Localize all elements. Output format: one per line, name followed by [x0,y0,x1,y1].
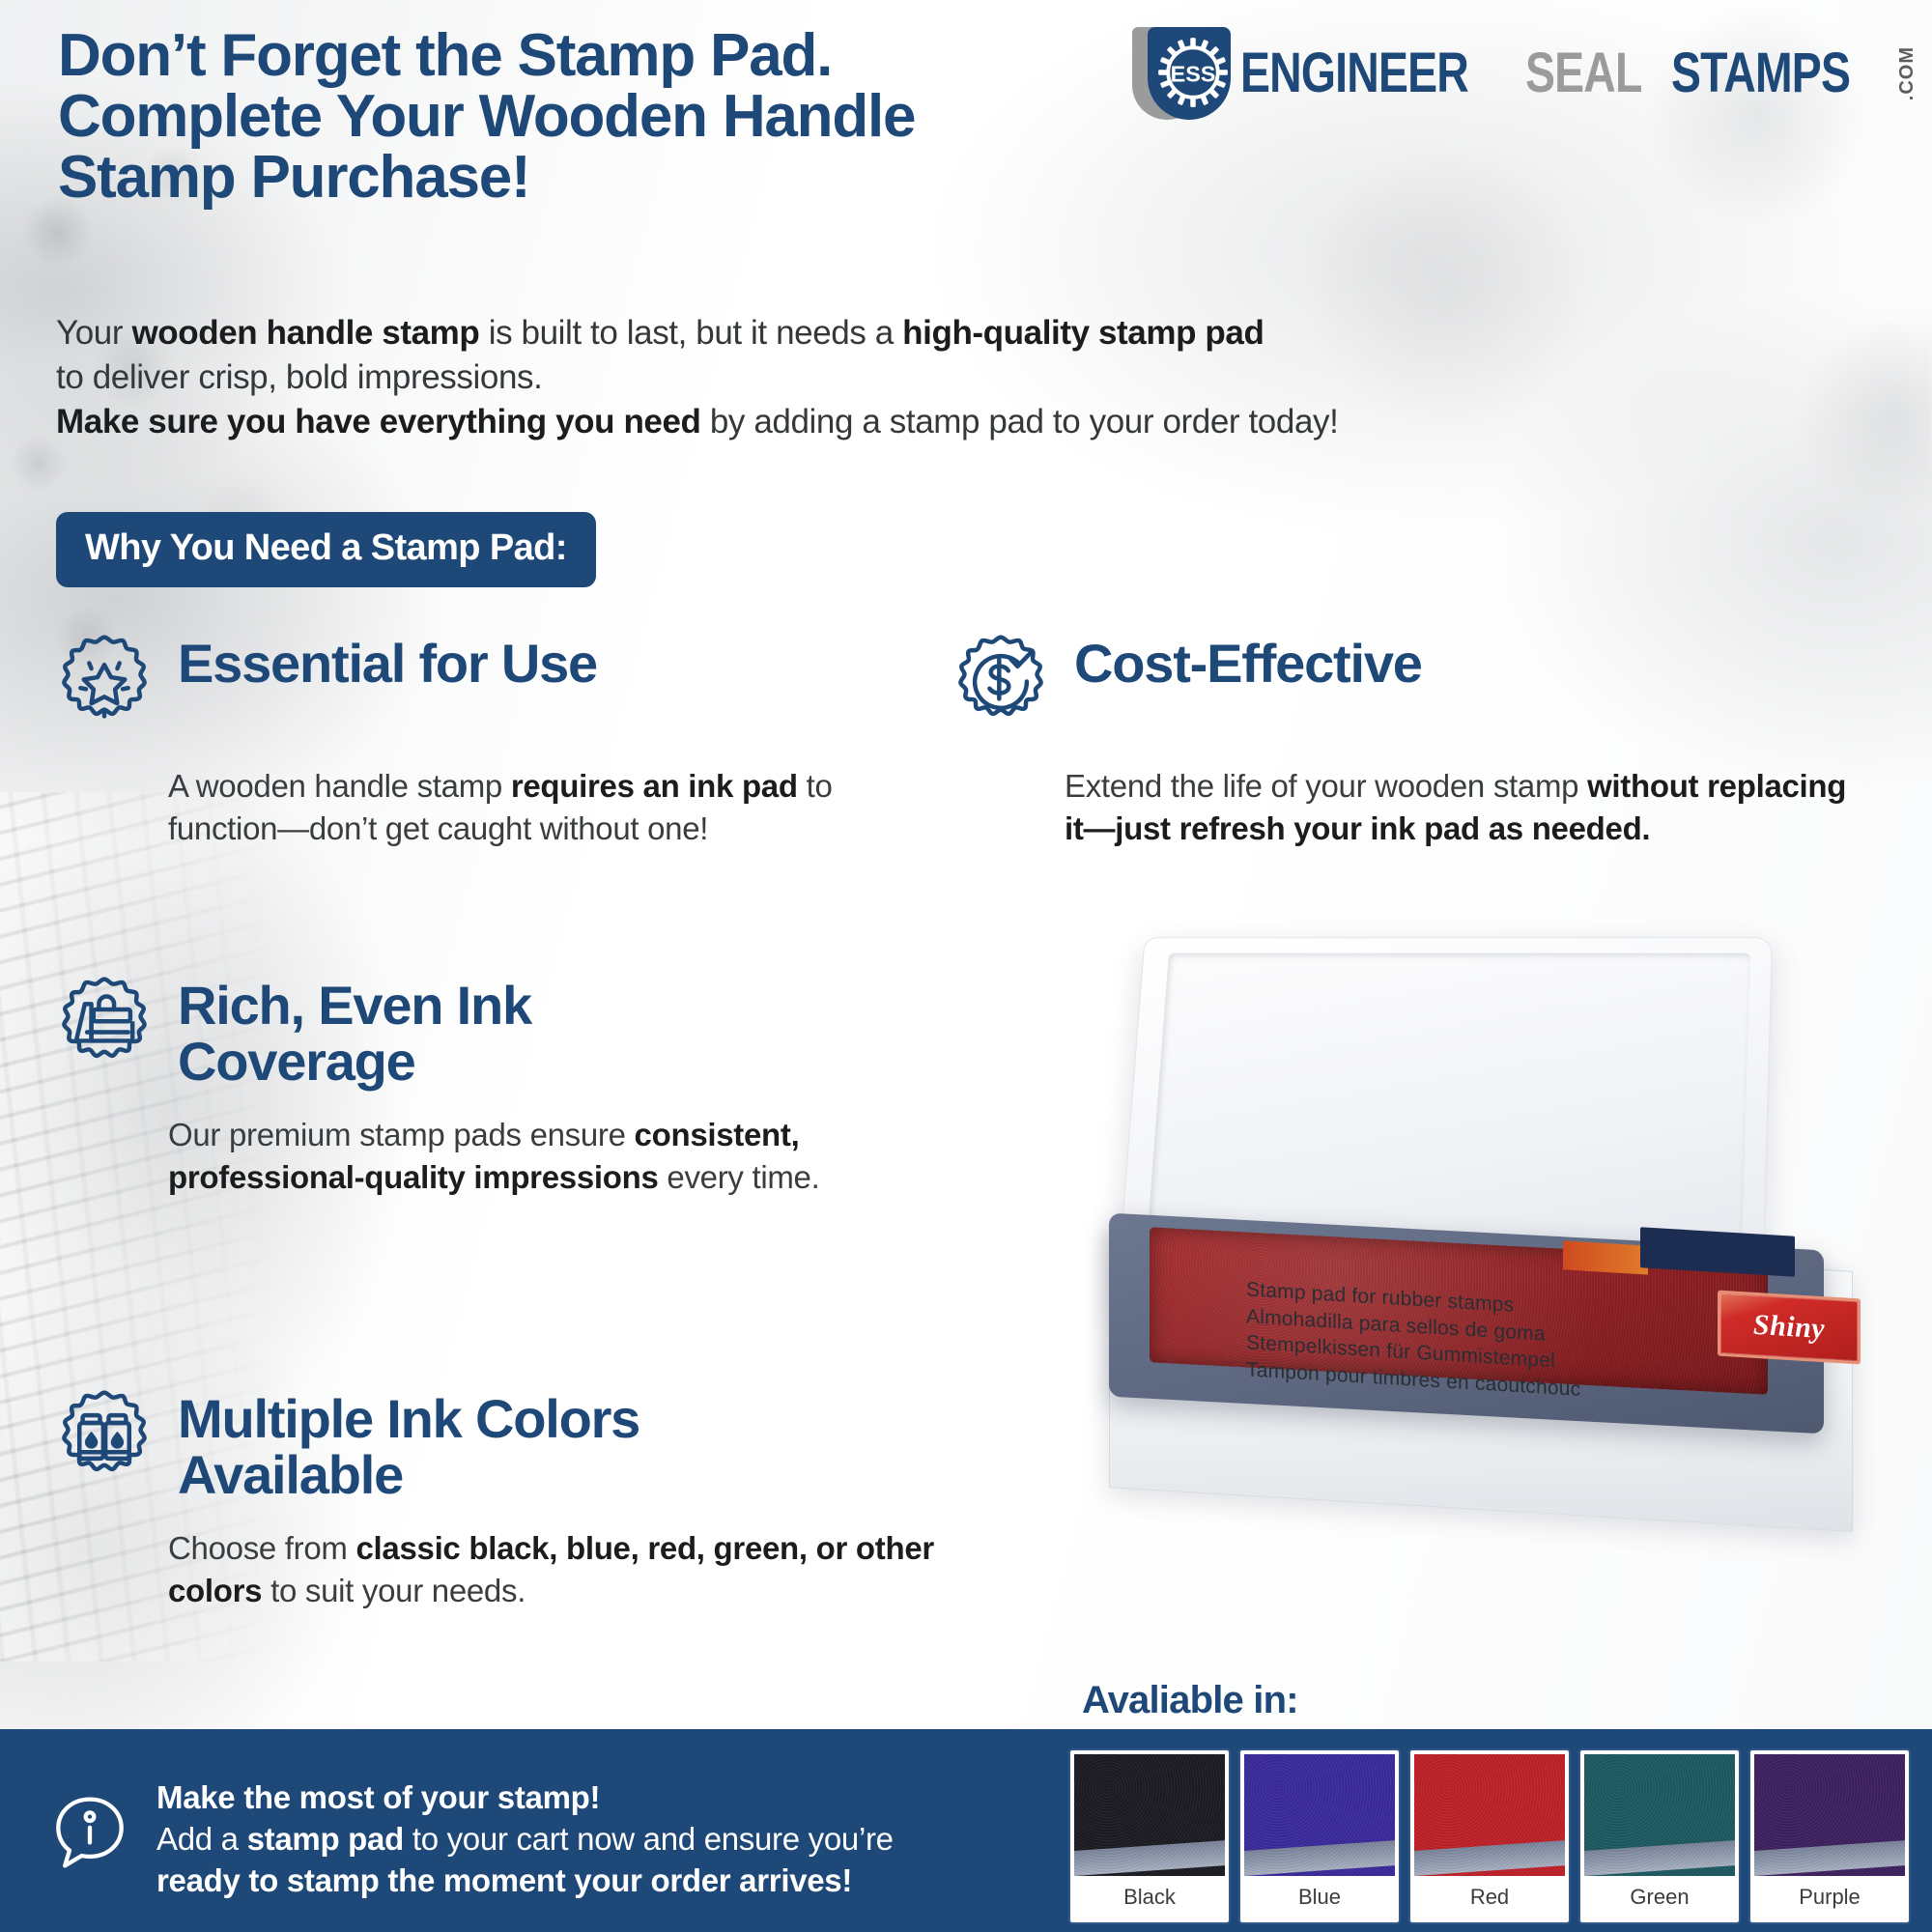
brand-logo[interactable]: ESS ENGINEER SEAL STAMPS .COM [1119,21,1918,126]
footer-line-3: ready to stamp the moment your order arr… [156,1861,894,1902]
swatch-blue[interactable]: Blue [1240,1750,1399,1922]
feature-body: Choose from classic black, blue, red, gr… [168,1527,960,1611]
intro-3b: by adding a stamp pad to your order toda… [701,403,1339,440]
body-a: Extend the life of your wooden stamp [1065,768,1587,804]
feature-cost-effective: Cost-Effective Extend the life of your w… [947,626,1913,849]
footer-line-2: Add a stamp pad to your cart now and ens… [156,1819,894,1861]
feature-body: Our premium stamp pads ensure consistent… [168,1114,844,1198]
feature-header: Multiple Ink Colors Available [50,1381,1026,1502]
intro-3a: Make sure you have everything you need [56,403,701,440]
swatch-label: Green [1584,1876,1735,1918]
intro-line-1: Your wooden handle stamp is built to las… [56,311,1795,355]
swatch-color-fill [1244,1754,1395,1876]
intro-paragraph: Your wooden handle stamp is built to las… [56,311,1795,445]
logo-word-engineer: ENGINEER [1240,45,1468,101]
feature-title: Rich, Even Ink Coverage [178,968,699,1089]
feature-title: Multiple Ink Colors Available [178,1381,777,1502]
swatch-label: Black [1074,1876,1225,1918]
intro-1a: Your [56,314,131,352]
info-speech-bubble-icon [48,1791,131,1874]
intro-1c: is built to last, but it needs a [479,314,902,352]
feature-header: Rich, Even Ink Coverage [50,968,842,1089]
stamp-badge-icon [50,974,158,1082]
body-c: to suit your needs. [262,1573,526,1608]
intro-line-3: Make sure you have everything you need b… [56,400,1795,444]
feature-body: Extend the life of your wooden stamp wit… [1065,765,1847,849]
footer-text: Make the most of your stamp! Add a stamp… [156,1777,894,1902]
ink-bottle-left [79,1415,103,1459]
feature-essential-for-use: Essential for Use A wooden handle stamp … [50,626,920,849]
page-title: Don’t Forget the Stamp Pad. Complete You… [58,25,1198,209]
logo-tld: .COM [1896,46,1918,100]
star-shape [84,665,126,703]
infographic-page: Don’t Forget the Stamp Pad. Complete You… [0,0,1932,1932]
info-dot [86,1812,95,1821]
swatch-label: Red [1414,1876,1565,1918]
intro-line-2: to deliver crisp, bold impressions. [56,355,1795,400]
feature-body: A wooden handle stamp requires an ink pa… [168,765,902,849]
footer-2b: stamp pad [247,1821,404,1857]
shiny-brand-label: Shiny [1753,1309,1825,1346]
footer-2c: to your cart now and ensure you’re [404,1821,894,1857]
footer-callout: Make the most of your stamp! Add a stamp… [48,1777,894,1902]
body-b: requires an ink pad [511,768,798,804]
swatch-color-fill [1074,1754,1225,1876]
footer-line-1: Make the most of your stamp! [156,1777,894,1819]
footer-2a: Add a [156,1821,247,1857]
headline-line-3: Stamp Purchase! [58,147,1198,208]
swatch-label: Purple [1754,1876,1905,1918]
headline-line-2: Complete Your Wooden Handle [58,86,1198,147]
swatch-black[interactable]: Black [1070,1750,1229,1922]
ess-mark-text: ESS [1171,61,1216,86]
swatch-color-fill [1584,1754,1735,1876]
color-swatch-list: Black Blue Red Green Purple [1070,1750,1909,1922]
body-a: Choose from [168,1530,355,1566]
body-a: A wooden handle stamp [168,768,511,804]
intro-1d: high-quality stamp pad [902,314,1264,352]
feature-rich-even-ink-coverage: Rich, Even Ink Coverage Our premium stam… [50,968,842,1198]
product-photo [1080,942,1891,1541]
intro-1b: wooden handle stamp [131,314,479,352]
logo-word-stamps: STAMPS [1671,45,1850,101]
feature-title: Cost-Effective [1074,626,1422,692]
body-c: every time. [659,1159,820,1195]
gear-icon: ESS [1155,35,1231,110]
stamp-head [94,1009,130,1021]
ess-shield-badge: ESS [1119,23,1235,124]
ink-bottle-right [105,1415,129,1459]
swatch-purple[interactable]: Purple [1750,1750,1909,1922]
swatch-green[interactable]: Green [1580,1750,1739,1922]
shiny-brand-logo: Shiny [1718,1291,1861,1365]
feature-title: Essential for Use [178,626,597,692]
feature-multiple-ink-colors: Multiple Ink Colors Available Choose fro… [50,1381,1026,1611]
dollar-check-badge-icon [947,632,1055,740]
star-badge-icon [50,632,158,740]
available-in-title: Avaliable in: [1082,1679,1298,1722]
logo-wordmark: ENGINEER SEAL STAMPS [1240,45,1894,101]
feature-header: Essential for Use [50,626,920,740]
swatch-label: Blue [1244,1876,1395,1918]
carton-sticker-orange [1563,1240,1648,1274]
feature-header: Cost-Effective [947,626,1913,740]
section-banner: Why You Need a Stamp Pad: [56,512,596,587]
headline-line-1: Don’t Forget the Stamp Pad. [58,25,1198,86]
check-mark [1010,652,1031,667]
swatch-color-fill [1754,1754,1905,1876]
swatch-red[interactable]: Red [1410,1750,1569,1922]
ink-bottles-badge-icon [50,1387,158,1495]
swatch-color-fill [1414,1754,1565,1876]
stamp-plate [76,1004,92,1040]
body-a: Our premium stamp pads ensure [168,1117,635,1152]
logo-word-seal: SEAL [1525,45,1642,101]
